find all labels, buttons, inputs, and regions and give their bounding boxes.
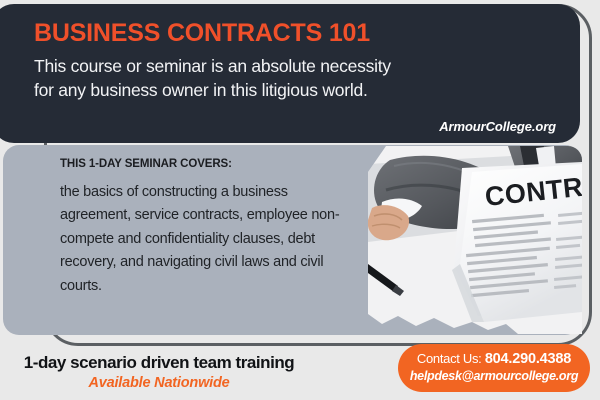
contact-phone[interactable]: 804.290.4388 bbox=[485, 351, 571, 367]
seminar-copy-block: THIS 1-DAY SEMINAR COVERS: the basics of… bbox=[60, 158, 356, 298]
contact-phone-line: Contact Us: 804.290.4388 bbox=[398, 351, 590, 368]
contact-email[interactable]: helpdesk@armourcollege.org bbox=[398, 369, 590, 384]
contact-label: Contact Us: bbox=[417, 351, 482, 366]
header-card: BUSINESS CONTRACTS 101 This course or se… bbox=[0, 4, 580, 143]
seminar-covers-body: the basics of constructing a business ag… bbox=[60, 181, 356, 298]
website-byline: ArmourCollege.org bbox=[439, 119, 556, 134]
seminar-covers-heading: THIS 1-DAY SEMINAR COVERS: bbox=[60, 158, 356, 170]
contact-badge[interactable]: Contact Us: 804.290.4388 helpdesk@armour… bbox=[398, 344, 590, 392]
tagline-sub: Available Nationwide bbox=[8, 375, 310, 392]
page-title: BUSINESS CONTRACTS 101 bbox=[34, 20, 558, 46]
hand-holding-contract-photo: CONTRA bbox=[368, 146, 582, 334]
header-subtitle-line-2: for any business owner in this litigious… bbox=[34, 79, 558, 102]
tagline-main: 1-day scenario driven team training bbox=[8, 353, 310, 373]
header-subtitle-line-1: This course or seminar is an absolute ne… bbox=[34, 55, 558, 78]
tagline-block: 1-day scenario driven team training Avai… bbox=[8, 353, 310, 391]
flyer-poster: CONTRA bbox=[0, 0, 600, 400]
